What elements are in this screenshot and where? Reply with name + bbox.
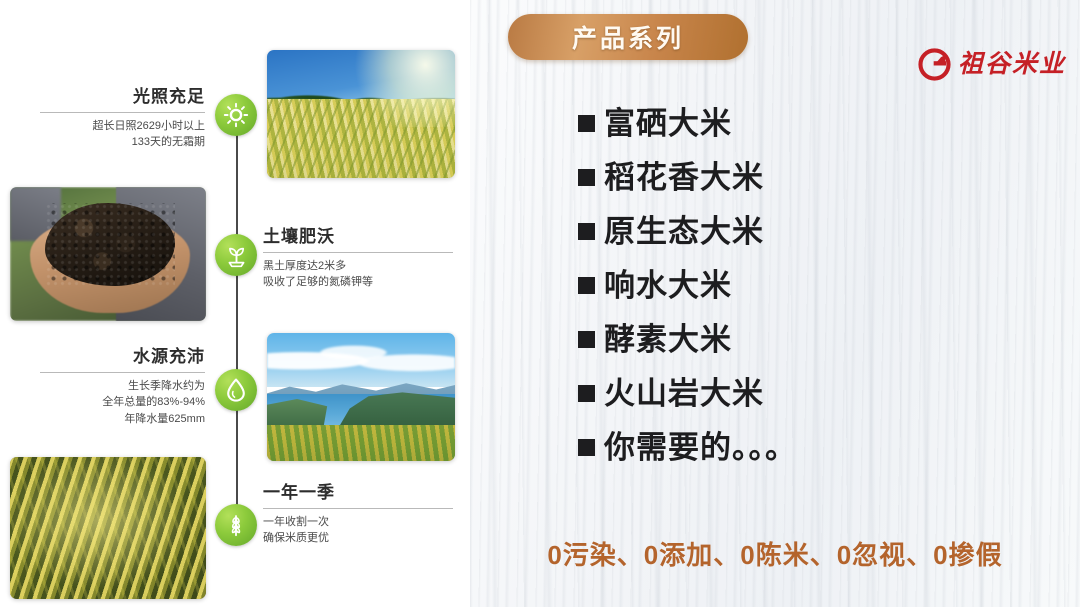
product-label: 你需要的。。。: [604, 432, 797, 463]
product-series-header-pill: 产品系列: [508, 14, 748, 60]
square-bullet-icon: [578, 439, 595, 456]
right-product-panel: 产品系列 祖谷米业 富硒大米 稻花香大米 原生态大米: [470, 0, 1080, 607]
timeline-divider: [263, 252, 453, 253]
square-bullet-icon: [578, 169, 595, 186]
lake-and-mountains-photo: [267, 333, 455, 461]
product-label: 稻花香大米: [604, 162, 764, 193]
timeline-block-water: 水源充沛 生长季降水约为 全年总量的83%-94% 年降水量625mm: [40, 348, 205, 427]
timeline-title-harvest: 一年一季: [263, 484, 453, 503]
product-list-item[interactable]: 原生态大米: [578, 204, 1048, 258]
timeline-block-soil: 土壤肥沃 黑土厚度达2米多 吸收了足够的氮磷钾等: [263, 228, 453, 291]
product-list-item[interactable]: 火山岩大米: [578, 366, 1048, 420]
product-list-item[interactable]: 你需要的。。。: [578, 420, 1048, 474]
timeline-desc-line: 一年收割一次: [263, 514, 453, 531]
sunny-rice-field-photo: [267, 50, 455, 178]
timeline-title-water: 水源充沛: [40, 348, 205, 367]
product-list-item[interactable]: 稻花香大米: [578, 150, 1048, 204]
product-label: 原生态大米: [604, 216, 764, 247]
footer-slogan: 0污染、0添加、0陈米、0忽视、0掺假: [470, 535, 1080, 572]
poster-page: 光照充足 超长日照2629小时以上 133天的无霜期 土壤肥沃 黑土厚度达2米多…: [0, 0, 1080, 607]
golden-rice-ears-photo: [10, 457, 206, 599]
brand-logo-text: 祖谷米业: [958, 52, 1066, 77]
product-list-item[interactable]: 富硒大米: [578, 96, 1048, 150]
square-bullet-icon: [578, 385, 595, 402]
timeline-desc-line: 全年总量的83%-94%: [40, 394, 205, 411]
water-drop-icon: [215, 369, 257, 411]
timeline-desc-line: 黑土厚度达2米多: [263, 258, 453, 275]
rice-ear-icon: [215, 504, 257, 546]
square-bullet-icon: [578, 331, 595, 348]
product-label: 响水大米: [604, 270, 732, 301]
sun-icon: [215, 94, 257, 136]
product-list-item[interactable]: 响水大米: [578, 258, 1048, 312]
product-label: 酵素大米: [604, 324, 732, 355]
circle-g-logo-icon: [918, 48, 951, 81]
timeline-rail: [236, 112, 238, 530]
square-bullet-icon: [578, 115, 595, 132]
product-list: 富硒大米 稻花香大米 原生态大米 响水大米 酵素大米 火山岩大米: [578, 96, 1048, 474]
timeline-block-harvest: 一年一季 一年收割一次 确保米质更优: [263, 484, 453, 547]
black-soil-in-hands-photo: [10, 187, 206, 321]
product-series-header-label: 产品系列: [572, 19, 684, 55]
product-label: 富硒大米: [604, 108, 732, 139]
brand-logo: 祖谷米业: [918, 48, 1066, 81]
timeline-title-soil: 土壤肥沃: [263, 228, 453, 247]
square-bullet-icon: [578, 277, 595, 294]
timeline-block-sunlight: 光照充足 超长日照2629小时以上 133天的无霜期: [40, 88, 205, 151]
sprout-icon: [215, 234, 257, 276]
product-list-item[interactable]: 酵素大米: [578, 312, 1048, 366]
timeline-divider: [40, 372, 205, 373]
left-infographic-panel: 光照充足 超长日照2629小时以上 133天的无霜期 土壤肥沃 黑土厚度达2米多…: [0, 0, 470, 607]
timeline-desc-line: 年降水量625mm: [40, 411, 205, 428]
timeline-divider: [40, 112, 205, 113]
timeline-desc-line: 确保米质更优: [263, 530, 453, 547]
timeline-desc-line: 生长季降水约为: [40, 378, 205, 395]
timeline-desc-line: 吸收了足够的氮磷钾等: [263, 274, 453, 291]
product-label: 火山岩大米: [604, 378, 764, 409]
timeline-desc-line: 超长日照2629小时以上: [40, 118, 205, 135]
square-bullet-icon: [578, 223, 595, 240]
timeline-divider: [263, 508, 453, 509]
timeline-title-sunlight: 光照充足: [40, 88, 205, 107]
timeline-desc-line: 133天的无霜期: [40, 134, 205, 151]
